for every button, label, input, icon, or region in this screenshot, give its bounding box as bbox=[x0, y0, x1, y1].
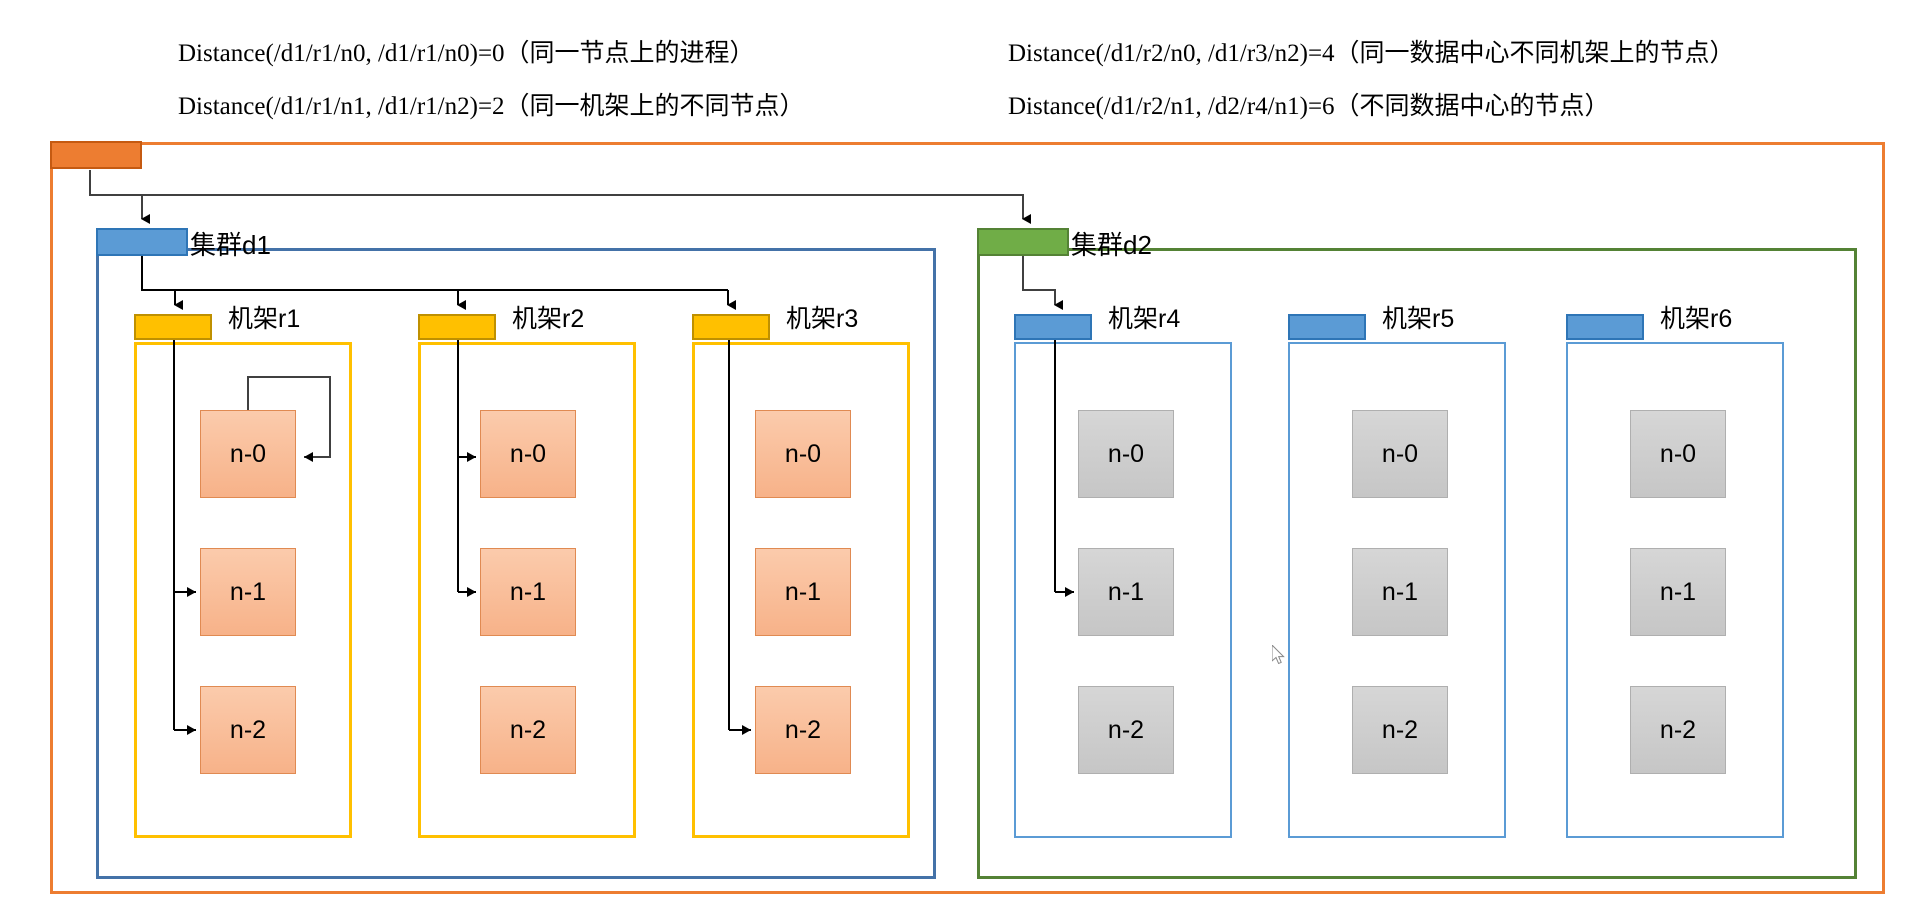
distance-formula-different-datacenter: Distance(/d1/r2/n1, /d2/r4/n1)=6（不同数据中心的… bbox=[1008, 86, 1610, 122]
rack-r3-tab[interactable] bbox=[692, 314, 770, 340]
cluster-d2-tab[interactable] bbox=[977, 228, 1069, 256]
rack-r2-label: 机架r2 bbox=[512, 299, 584, 335]
node-d2-r5-n2[interactable]: n-2 bbox=[1352, 686, 1448, 774]
node-d2-r5-n1[interactable]: n-1 bbox=[1352, 548, 1448, 636]
rack-r4-label: 机架r4 bbox=[1108, 299, 1180, 335]
cluster-d1-label: 集群d1 bbox=[190, 225, 271, 262]
node-d1-r1-n0[interactable]: n-0 bbox=[200, 410, 296, 498]
mouse-pointer-icon bbox=[1272, 645, 1288, 667]
node-d1-r1-n1[interactable]: n-1 bbox=[200, 548, 296, 636]
node-d1-r3-n0[interactable]: n-0 bbox=[755, 410, 851, 498]
node-d2-r6-n2[interactable]: n-2 bbox=[1630, 686, 1726, 774]
cluster-d2-label: 集群d2 bbox=[1071, 225, 1152, 262]
node-d1-r2-n1[interactable]: n-1 bbox=[480, 548, 576, 636]
rack-r1-tab[interactable] bbox=[134, 314, 212, 340]
rack-r5-label: 机架r5 bbox=[1382, 299, 1454, 335]
distance-formula-same-node: Distance(/d1/r1/n0, /d1/r1/n0)=0（同一节点上的进… bbox=[178, 33, 755, 69]
node-d1-r1-n2[interactable]: n-2 bbox=[200, 686, 296, 774]
rack-r2-tab[interactable] bbox=[418, 314, 496, 340]
rack-r3-label: 机架r3 bbox=[786, 299, 858, 335]
node-d2-r4-n1[interactable]: n-1 bbox=[1078, 548, 1174, 636]
node-d1-r2-n2[interactable]: n-2 bbox=[480, 686, 576, 774]
rack-r5-tab[interactable] bbox=[1288, 314, 1366, 340]
node-d2-r6-n0[interactable]: n-0 bbox=[1630, 410, 1726, 498]
rack-r6-label: 机架r6 bbox=[1660, 299, 1732, 335]
topology-root-tab[interactable] bbox=[50, 141, 142, 169]
node-d2-r4-n2[interactable]: n-2 bbox=[1078, 686, 1174, 774]
node-d1-r3-n2[interactable]: n-2 bbox=[755, 686, 851, 774]
rack-r4-tab[interactable] bbox=[1014, 314, 1092, 340]
rack-r6-tab[interactable] bbox=[1566, 314, 1644, 340]
distance-formula-same-datacenter: Distance(/d1/r2/n0, /d1/r3/n2)=4（同一数据中心不… bbox=[1008, 33, 1735, 69]
node-d1-r3-n1[interactable]: n-1 bbox=[755, 548, 851, 636]
node-d2-r5-n0[interactable]: n-0 bbox=[1352, 410, 1448, 498]
node-d2-r4-n0[interactable]: n-0 bbox=[1078, 410, 1174, 498]
cluster-d1-tab[interactable] bbox=[96, 228, 188, 256]
node-d2-r6-n1[interactable]: n-1 bbox=[1630, 548, 1726, 636]
distance-formula-same-rack: Distance(/d1/r1/n1, /d1/r1/n2)=2（同一机架上的不… bbox=[178, 86, 805, 122]
rack-r1-label: 机架r1 bbox=[228, 299, 300, 335]
node-d1-r2-n0[interactable]: n-0 bbox=[480, 410, 576, 498]
